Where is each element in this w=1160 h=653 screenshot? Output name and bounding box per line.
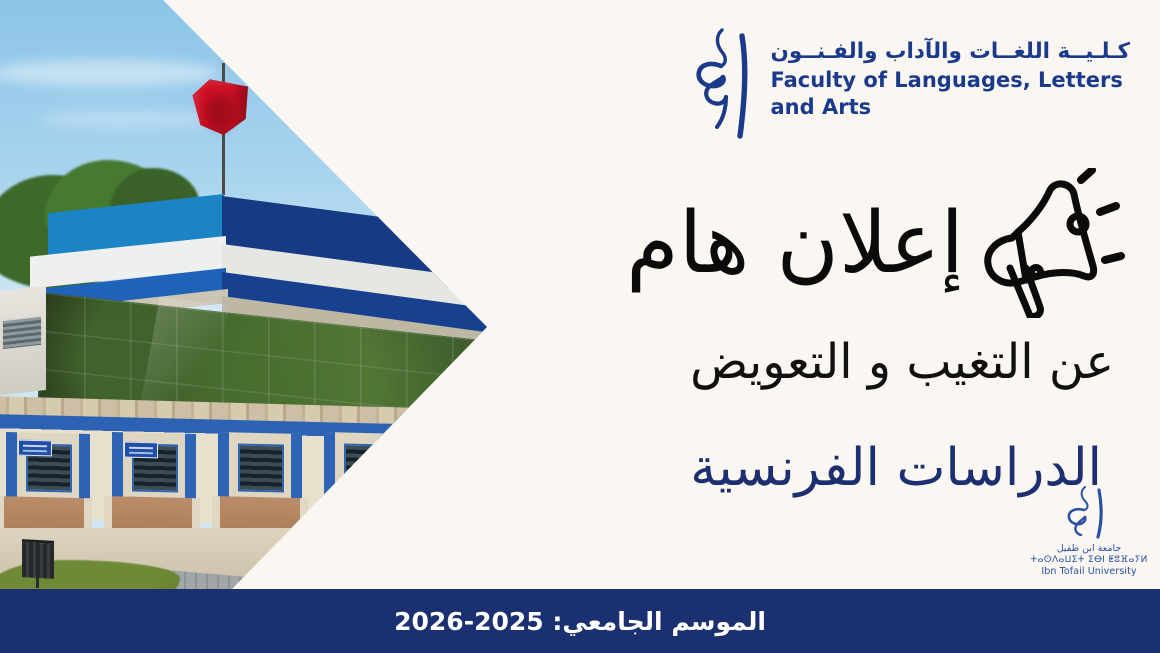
- door-sign-plaque: [124, 442, 158, 459]
- arcade-window: [344, 443, 390, 492]
- faculty-calligraphy-mark: [695, 26, 757, 142]
- academic-year-text: الموسم الجامعي: 2025-2026: [394, 607, 766, 636]
- faculty-building-photo: [0, 0, 500, 589]
- faculty-name-english-line1: Faculty of Languages, Letters: [771, 68, 1131, 93]
- trash-bin-leg: [36, 576, 39, 588]
- university-logo: جامعة ابن طفيل ⵜⴰⵙⴷⴰⵡⵉⵜ ⵉⴱⵏ ⵟⵓⴼⴰⵢⵍ Ibn T…: [1030, 484, 1148, 578]
- arcade-window: [450, 443, 496, 492]
- arcade-bay: [430, 432, 500, 508]
- subtitle-text: عن التغيب و التعويض: [690, 336, 1114, 389]
- cloud-shape: [0, 60, 220, 86]
- brick-planter-wall: [320, 496, 416, 542]
- university-name-arabic: جامعة ابن طفيل: [1030, 543, 1148, 555]
- faculty-logo-text: كـلـيــة اللغــات والآداب والفـنــون Fac…: [771, 26, 1131, 120]
- trash-bin: [22, 539, 54, 579]
- faculty-name-english-line2: and Arts: [771, 95, 1131, 120]
- brick-planter-wall: [428, 496, 500, 542]
- cloud-shape: [250, 30, 400, 50]
- faculty-name-arabic: كـلـيــة اللغــات والآداب والفـنــون: [771, 40, 1131, 65]
- university-name-tifinagh: ⵜⴰⵙⴷⴰⵡⵉⵜ ⵉⴱⵏ ⵟⵓⴼⴰⵢⵍ: [1030, 555, 1148, 566]
- cloud-shape: [40, 110, 220, 128]
- flag-shading: [205, 95, 235, 129]
- headline-row: إعلان هام: [626, 168, 1134, 318]
- faculty-logo: كـلـيــة اللغــات والآداب والفـنــون Fac…: [695, 26, 1131, 142]
- arcade-window: [238, 443, 284, 492]
- poster-content: كـلـيــة اللغــات والآداب والفـنــون Fac…: [500, 0, 1160, 589]
- announcement-poster: كـلـيــة اللغــات والآداب والفـنــون Fac…: [0, 0, 1160, 653]
- photo-sky: [0, 0, 500, 589]
- megaphone-icon: [974, 168, 1134, 318]
- footer-bar: الموسم الجامعي: 2025-2026: [0, 589, 1160, 653]
- side-window-louvre: [2, 316, 42, 350]
- headline-text: إعلان هام: [626, 201, 964, 286]
- door-sign-plaque: [18, 440, 52, 457]
- ibn-tofail-calligraphy-mark: [1066, 484, 1112, 540]
- university-name-english: Ibn Tofail University: [1030, 566, 1148, 578]
